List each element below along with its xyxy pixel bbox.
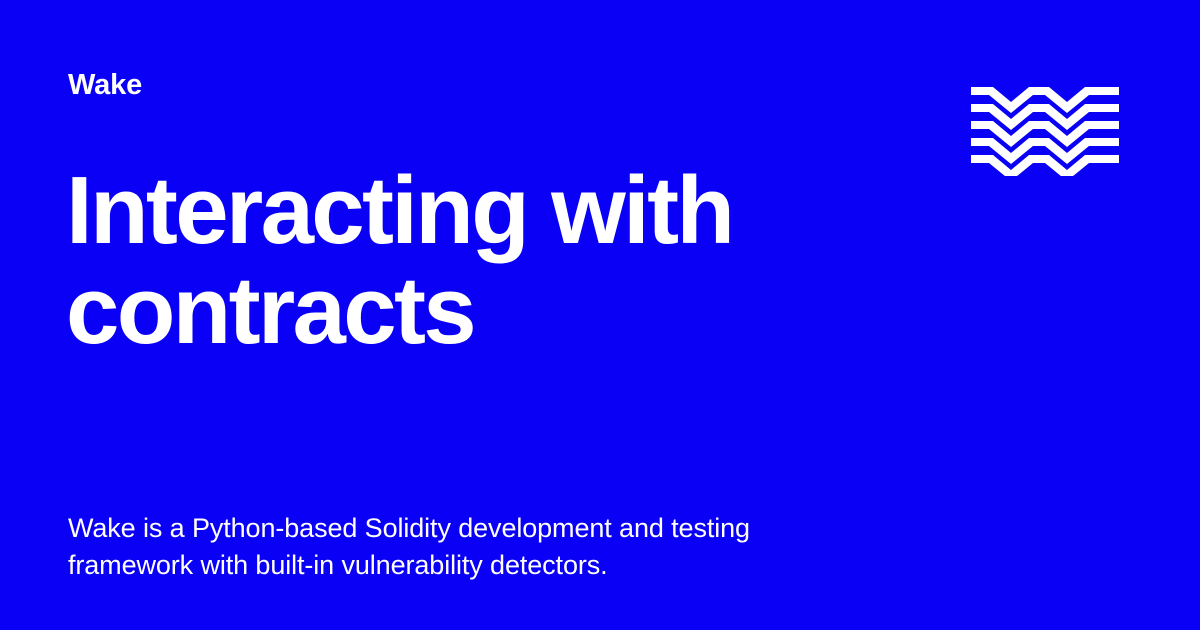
brand-wordmark: Wake [68, 71, 142, 100]
page-subtitle: Wake is a Python-based Solidity developm… [68, 510, 948, 584]
page-subtitle-line-2: framework with built-in vulnerability de… [68, 547, 948, 584]
page-subtitle-line-1: Wake is a Python-based Solidity developm… [68, 510, 948, 547]
page-title-line-2: contracts [66, 261, 886, 361]
page-title-line-1: Interacting with [66, 161, 886, 261]
og-card: Wake Interacting with contracts Wake is … [0, 0, 1200, 630]
page-title: Interacting with contracts [66, 161, 886, 361]
wake-wave-logo-icon [971, 87, 1119, 176]
